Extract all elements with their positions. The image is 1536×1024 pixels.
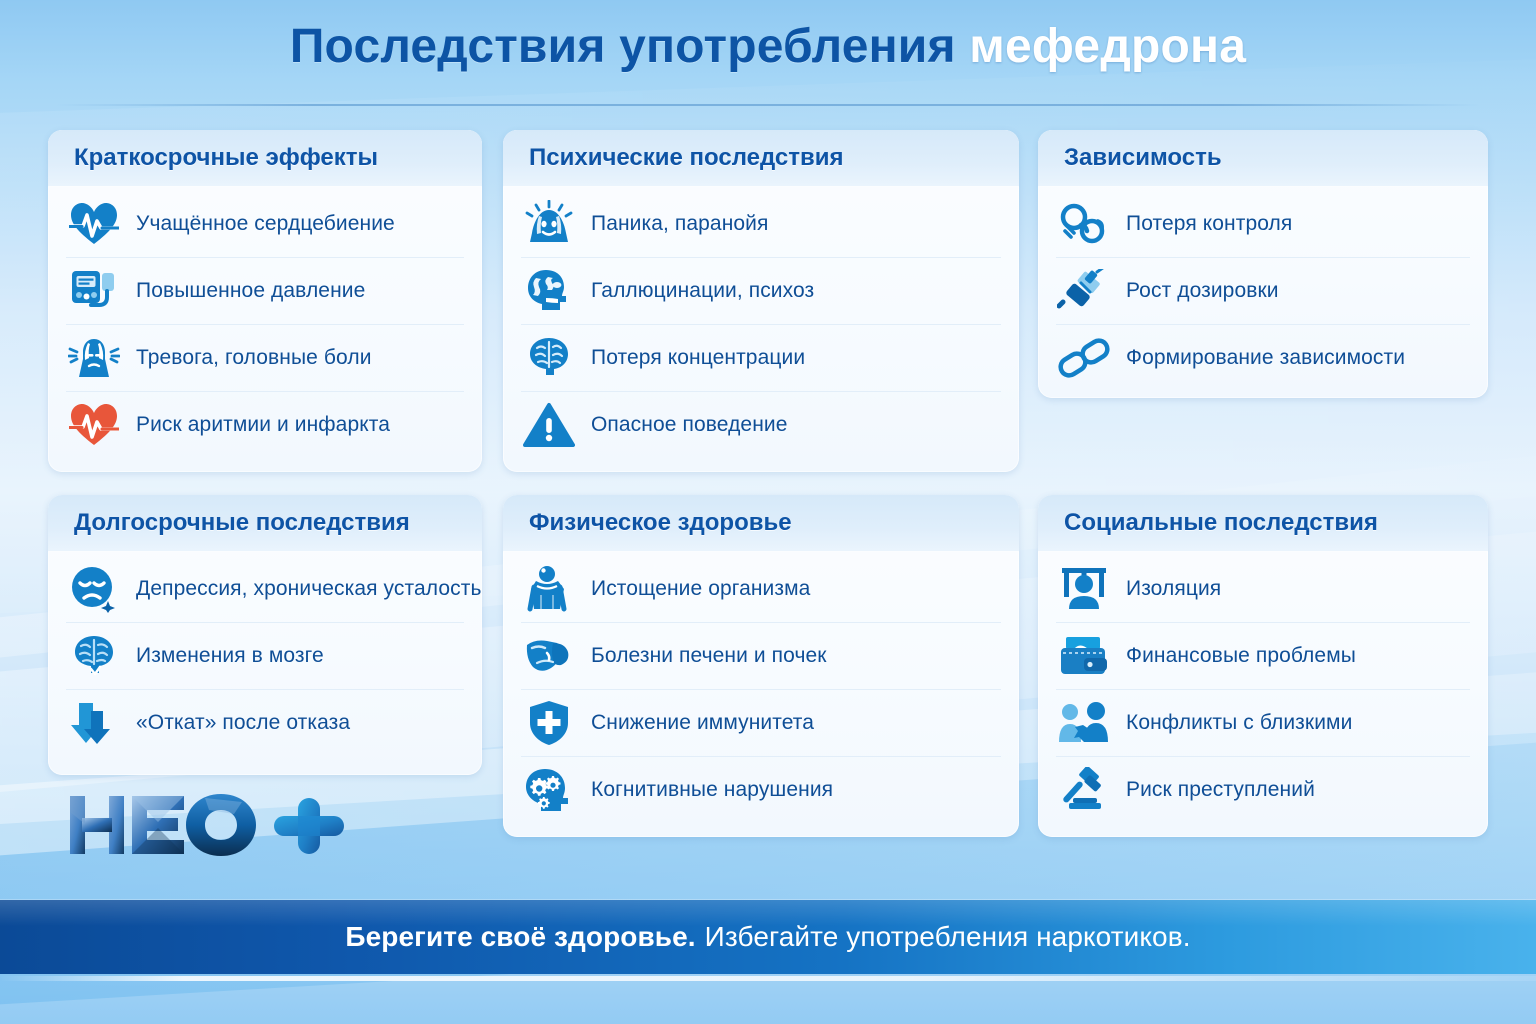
card-physical-health: Физическое здоровье Истощение организма [503,495,1019,837]
people-conflict-icon [1056,695,1112,751]
syringe-icon [1056,263,1112,319]
card-title: Зависимость [1064,144,1222,172]
brain-icon [521,330,577,386]
list-item-label: Потеря контроля [1126,212,1292,236]
header-divider [56,104,1480,106]
card-title: Физическое здоровье [529,509,792,537]
chain-link-icon [1056,330,1112,386]
card-title: Социальные последствия [1064,509,1378,537]
footer-banner: Берегите своё здоровье. Избегайте употре… [0,900,1536,974]
list-item[interactable]: Тревога, головные боли [66,325,464,392]
card-body: Депрессия, хроническая усталость Изменен… [48,552,482,766]
page-title-primary: Последствия употребления [290,20,956,73]
headache-person-icon [66,330,122,386]
sad-face-icon [66,561,122,617]
list-item[interactable]: Учащённое сердцебиение [66,191,464,258]
card-title: Краткосрочные эффекты [74,144,378,172]
page-header: Последствия употребления мефедрона [0,0,1536,112]
card-social-consequences: Социальные последствия Изоляция [1038,495,1488,837]
heart-pulse-icon [66,196,122,252]
head-hallucination-icon [521,263,577,319]
list-item-label: «Откат» после отказа [136,711,350,735]
card-dependence: Зависимость Потеря контроля [1038,130,1488,398]
card-header: Зависимость [1038,130,1488,187]
gavel-icon [1056,762,1112,818]
list-item-label: Риск аритмии и инфаркта [136,413,390,437]
panic-face-icon [521,196,577,252]
list-item-label: Опасное поведение [591,413,788,437]
card-header: Социальные последствия [1038,495,1488,552]
list-item[interactable]: Снижение иммунитета [521,690,1001,757]
warning-triangle-icon [521,397,577,453]
handcuffs-icon [1056,196,1112,252]
down-arrows-icon [66,695,122,751]
footer-message: Берегите своё здоровье. Избегайте употре… [0,900,1536,974]
list-item-label: Тревога, головные боли [136,346,372,370]
wallet-icon [1056,628,1112,684]
liver-kidney-icon [521,628,577,684]
list-item[interactable]: Финансовые проблемы [1056,623,1470,690]
brand-logo[interactable] [66,790,346,860]
list-item[interactable]: Истощение организма [521,556,1001,623]
list-item[interactable]: Конфликты с близкими [1056,690,1470,757]
list-item[interactable]: Галлюцинации, психоз [521,258,1001,325]
logo-letter-n [70,796,124,854]
list-item[interactable]: Паника, паранойя [521,191,1001,258]
infographic-canvas: Последствия употребления мефедрона Кратк… [0,0,1536,1024]
list-item[interactable]: Потеря концентрации [521,325,1001,392]
logo-letter-o [186,794,256,856]
card-body: Паника, паранойя Галлюцинации, психоз [503,187,1019,468]
blood-pressure-monitor-icon [66,263,122,319]
card-long-term-consequences: Долгосрочные последствия Депрессия, хрон… [48,495,482,775]
list-item[interactable]: Повышенное давление [66,258,464,325]
list-item[interactable]: Болезни печени и почек [521,623,1001,690]
page-title: Последствия употребления мефедрона [0,22,1536,72]
card-short-term-effects: Краткосрочные эффекты Учащённое сердцеби… [48,130,482,472]
list-item-label: Формирование зависимости [1126,346,1405,370]
list-item-label: Финансовые проблемы [1126,644,1356,668]
list-item-label: Рост дозировки [1126,279,1279,303]
card-mental-consequences: Психические последствия Паника, паранойя [503,130,1019,472]
thin-person-icon [521,561,577,617]
card-body: Истощение организма Болезни печени и поч… [503,552,1019,833]
list-item[interactable]: Потеря контроля [1056,191,1470,258]
card-header: Физическое здоровье [503,495,1019,552]
list-item[interactable]: Риск преступлений [1056,757,1470,823]
list-item-label: Галлюцинации, психоз [591,279,814,303]
footer-underline [0,976,1536,981]
list-item-label: Конфликты с близкими [1126,711,1352,735]
list-item[interactable]: Изоляция [1056,556,1470,623]
list-item-label: Паника, паранойя [591,212,769,236]
page-title-accent: мефедрона [969,20,1246,73]
card-header: Краткосрочные эффекты [48,130,482,187]
list-item-label: Учащённое сердцебиение [136,212,395,236]
list-item[interactable]: Изменения в мозге [66,623,464,690]
list-item[interactable]: Формирование зависимости [1056,325,1470,391]
card-body: Изоляция Финансовые проблемы [1038,552,1488,833]
card-title: Психические последствия [529,144,844,172]
list-item-label: Когнитивные нарушения [591,778,833,802]
card-body: Потеря контроля Рост дозировки [1038,187,1488,398]
card-header: Психические последствия [503,130,1019,187]
card-body: Учащённое сердцебиение [48,187,482,468]
list-item[interactable]: «Откат» после отказа [66,690,464,756]
shield-cross-icon [521,695,577,751]
list-item-label: Риск преступлений [1126,778,1315,802]
brain-damage-icon [66,628,122,684]
heart-pulse-red-icon [66,397,122,453]
footer-message-normal: Избегайте употребления наркотиков. [705,921,1191,953]
list-item-label: Снижение иммунитета [591,711,814,735]
list-item-label: Повышенное давление [136,279,365,303]
logo-letter-plus [274,798,344,854]
head-gears-icon [521,762,577,818]
list-item[interactable]: Депрессия, хроническая усталость [66,556,464,623]
list-item-label: Потеря концентрации [591,346,805,370]
list-item[interactable]: Риск аритмии и инфаркта [66,392,464,458]
list-item[interactable]: Опасное поведение [521,392,1001,458]
card-header: Долгосрочные последствия [48,495,482,552]
list-item[interactable]: Когнитивные нарушения [521,757,1001,823]
logo-letter-e [132,796,184,854]
list-item[interactable]: Рост дозировки [1056,258,1470,325]
list-item-label: Изоляция [1126,577,1221,601]
footer-message-bold: Берегите своё здоровье. [345,921,695,953]
list-item-label: Болезни печени и почек [591,644,827,668]
list-item-label: Изменения в мозге [136,644,324,668]
prison-person-icon [1056,561,1112,617]
list-item-label: Депрессия, хроническая усталость [136,577,482,601]
list-item-label: Истощение организма [591,577,810,601]
card-title: Долгосрочные последствия [74,509,410,537]
